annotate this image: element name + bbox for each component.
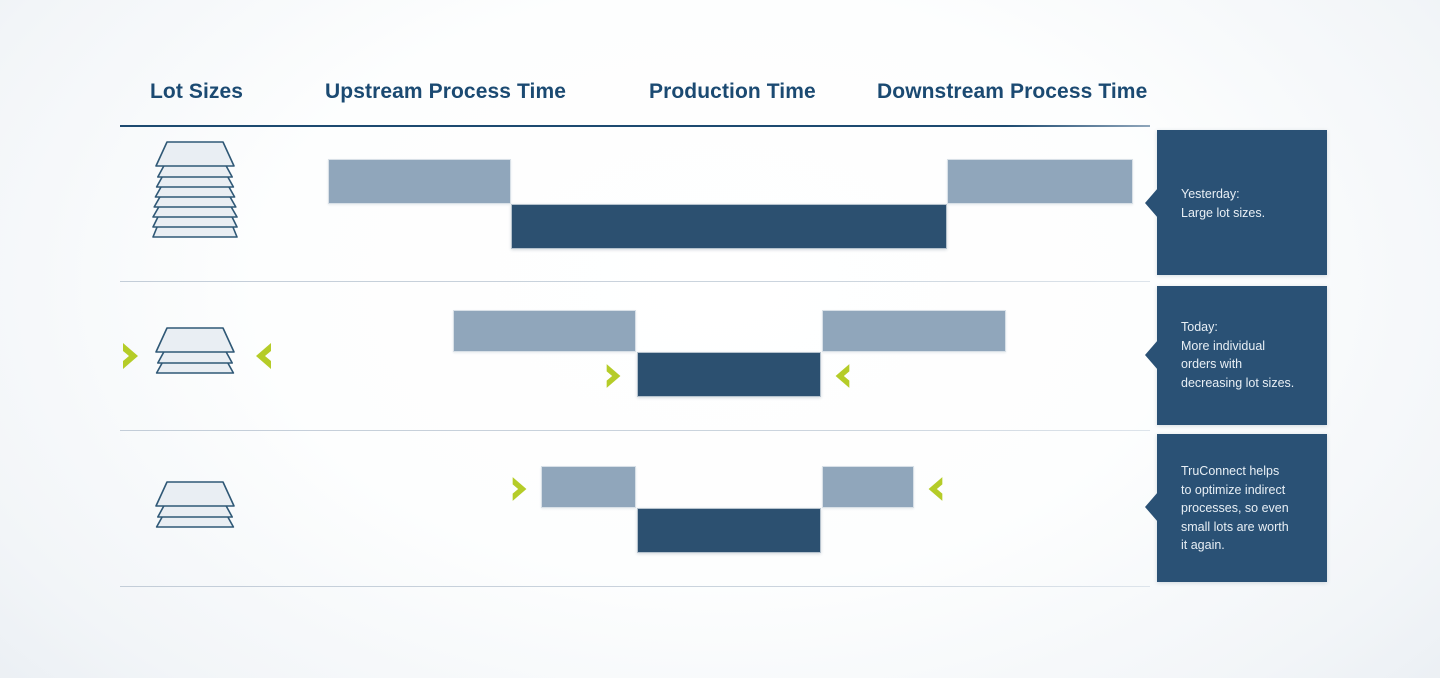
bar-production xyxy=(637,508,821,553)
diagram-canvas: Lot Sizes Upstream Process Time Producti… xyxy=(0,0,1440,678)
chevron-right-icon xyxy=(119,340,143,372)
bar-upstream xyxy=(328,159,511,204)
lot-stack-icon xyxy=(152,141,238,248)
row-divider-3 xyxy=(120,586,1150,587)
column-header-lot-sizes: Lot Sizes xyxy=(150,80,243,104)
lot-stack-icon xyxy=(152,327,238,384)
bar-upstream xyxy=(541,466,636,508)
column-header-production: Production Time xyxy=(649,80,816,104)
callout-today: Today: More individual orders with decre… xyxy=(1157,286,1327,425)
chevron-left-icon xyxy=(831,361,853,391)
bar-production xyxy=(511,204,947,249)
column-header-upstream: Upstream Process Time xyxy=(325,80,566,104)
callout-text: TruConnect helps to optimize indirect pr… xyxy=(1181,462,1313,555)
callout-yesterday: Yesterday: Large lot sizes. xyxy=(1157,130,1327,275)
callout-pointer-icon xyxy=(1145,492,1158,522)
callout-pointer-icon xyxy=(1145,188,1158,218)
chevron-left-icon xyxy=(251,340,275,372)
callout-pointer-icon xyxy=(1145,340,1158,370)
callout-truconnect: TruConnect helps to optimize indirect pr… xyxy=(1157,434,1327,582)
chevron-right-icon xyxy=(603,361,625,391)
lot-stack-layer xyxy=(152,481,238,507)
bar-upstream xyxy=(453,310,636,352)
chevron-right-icon xyxy=(509,474,531,504)
chevron-left-icon xyxy=(924,474,946,504)
column-headers: Lot Sizes Upstream Process Time Producti… xyxy=(120,80,1150,114)
lot-stack-layer xyxy=(152,327,238,353)
bar-downstream xyxy=(947,159,1133,204)
bar-downstream xyxy=(822,310,1006,352)
column-header-downstream: Downstream Process Time xyxy=(877,80,1147,104)
lot-stack-layer xyxy=(152,141,238,167)
bar-production xyxy=(637,352,821,397)
callout-text: Yesterday: Large lot sizes. xyxy=(1181,185,1313,222)
bar-downstream xyxy=(822,466,914,508)
callout-text: Today: More individual orders with decre… xyxy=(1181,318,1313,392)
lot-stack-icon xyxy=(152,481,238,538)
